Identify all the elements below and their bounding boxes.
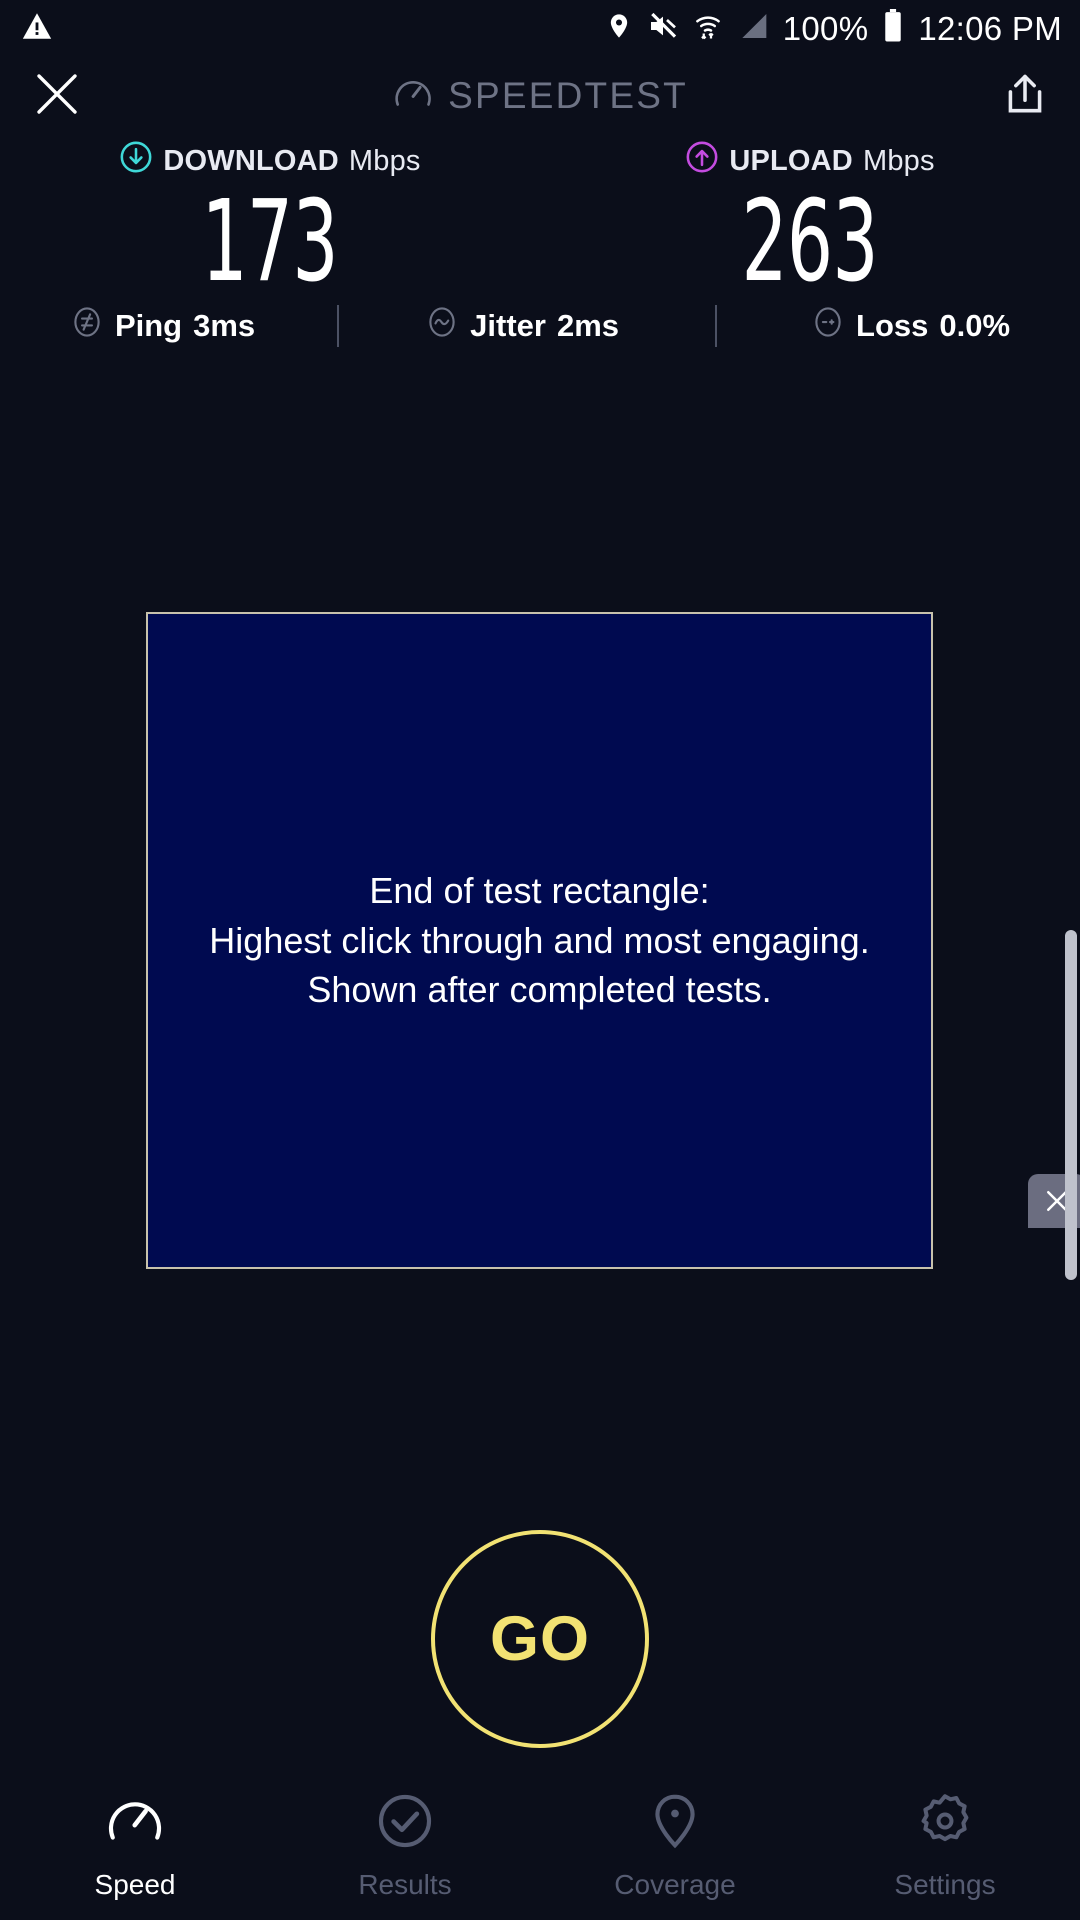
jitter-icon xyxy=(425,305,459,347)
nav-item-settings-label: Settings xyxy=(894,1869,995,1901)
close-icon[interactable] xyxy=(30,67,84,126)
go-button-label: GO xyxy=(490,1603,590,1675)
ad-line-1: End of test rectangle: xyxy=(209,866,869,916)
ad-line-3: Shown after completed tests. xyxy=(209,965,869,1015)
wifi-icon xyxy=(693,10,723,47)
metric-loss-name: Loss xyxy=(856,308,928,344)
metric-ping-value: 3ms xyxy=(193,308,255,344)
bottom-navigation: Speed Results Coverage Settings xyxy=(0,1776,1080,1920)
location-icon xyxy=(605,10,633,47)
nav-item-settings[interactable]: Settings xyxy=(810,1776,1080,1920)
nav-item-results[interactable]: Results xyxy=(270,1776,540,1920)
advertisement[interactable]: End of test rectangle: Highest click thr… xyxy=(146,612,933,1269)
metric-jitter-name: Jitter xyxy=(470,308,546,344)
mute-icon xyxy=(647,10,679,47)
status-bar-right: 100% 12:06 PM xyxy=(605,9,1062,48)
app-header: SPEEDTEST xyxy=(0,56,1080,136)
results-summary: DOWNLOAD Mbps 173 UPLOAD Mbps 263 xyxy=(0,140,1080,298)
upload-label-text: UPLOAD xyxy=(729,145,853,178)
download-label: DOWNLOAD Mbps xyxy=(119,140,420,182)
metric-divider xyxy=(715,305,717,347)
page-title: SPEEDTEST xyxy=(392,73,688,120)
upload-value: 263 xyxy=(742,186,878,298)
ping-icon xyxy=(70,305,104,347)
page-title-text: SPEEDTEST xyxy=(448,75,688,117)
metric-ping: Ping 3ms xyxy=(70,305,255,347)
download-label-text: DOWNLOAD xyxy=(163,145,339,178)
share-icon[interactable] xyxy=(1000,69,1050,124)
nav-item-coverage[interactable]: Coverage xyxy=(540,1776,810,1920)
vertical-scrollbar[interactable] xyxy=(1065,930,1077,1280)
clock: 12:06 PM xyxy=(918,12,1062,45)
metric-loss: Loss 0.0% xyxy=(811,305,1010,347)
metric-loss-value: 0.0% xyxy=(939,308,1010,344)
speedometer-icon xyxy=(392,73,434,120)
check-circle-icon xyxy=(374,1790,436,1857)
nav-item-coverage-label: Coverage xyxy=(614,1869,735,1901)
battery-percent: 100% xyxy=(783,12,869,45)
status-bar-left xyxy=(20,9,54,48)
nav-item-speed-label: Speed xyxy=(95,1869,176,1901)
speed-row: DOWNLOAD Mbps 173 UPLOAD Mbps 263 xyxy=(0,140,1080,298)
status-bar: 100% 12:06 PM xyxy=(0,0,1080,56)
metric-jitter-value: 2ms xyxy=(557,308,619,344)
gear-icon xyxy=(914,1790,976,1857)
battery-full-icon xyxy=(882,9,904,48)
loss-icon xyxy=(811,305,845,347)
download-unit-text: Mbps xyxy=(349,145,421,178)
metric-divider xyxy=(337,305,339,347)
cellular-signal-icon xyxy=(737,10,769,47)
upload-unit-text: Mbps xyxy=(863,145,935,178)
map-pin-icon xyxy=(644,1790,706,1857)
ad-banner[interactable]: End of test rectangle: Highest click thr… xyxy=(146,612,933,1269)
download-result: DOWNLOAD Mbps 173 xyxy=(0,140,540,298)
upload-label: UPLOAD Mbps xyxy=(685,140,934,182)
network-metrics: Ping 3ms Jitter 2ms Loss 0.0% xyxy=(0,305,1080,347)
nav-item-results-label: Results xyxy=(358,1869,451,1901)
speedometer-icon xyxy=(104,1790,166,1857)
upload-arrow-icon xyxy=(685,140,719,182)
download-arrow-icon xyxy=(119,140,153,182)
metric-jitter: Jitter 2ms xyxy=(425,305,619,347)
warning-triangle-icon xyxy=(20,9,54,48)
ad-line-2: Highest click through and most engaging. xyxy=(209,916,869,966)
upload-result: UPLOAD Mbps 263 xyxy=(540,140,1080,298)
download-value: 173 xyxy=(202,186,338,298)
nav-item-speed[interactable]: Speed xyxy=(0,1776,270,1920)
metric-ping-name: Ping xyxy=(115,308,182,344)
ad-text: End of test rectangle: Highest click thr… xyxy=(195,866,883,1015)
go-button[interactable]: GO xyxy=(431,1530,649,1748)
